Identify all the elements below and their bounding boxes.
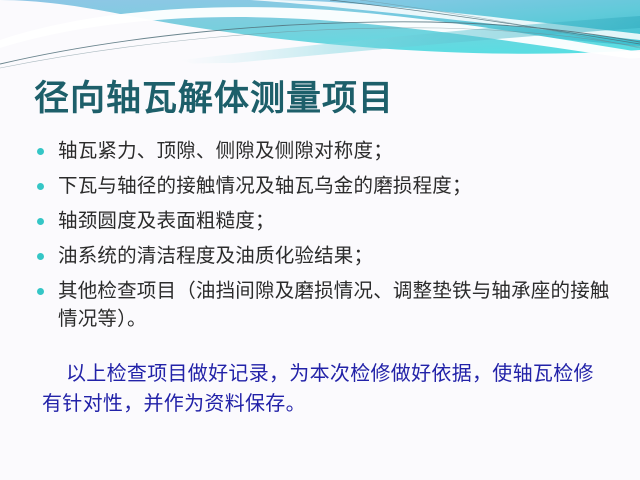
wave-banner-graphic bbox=[0, 0, 640, 72]
bullet-dot-icon bbox=[37, 253, 44, 260]
list-item: 轴颈圆度及表面粗糙度； bbox=[32, 208, 616, 236]
list-item-label: 其他检查项目（油挡间隙及磨损情况、调整垫铁与轴承座的接触情况等）。 bbox=[58, 278, 616, 334]
bullet-dot-icon bbox=[37, 288, 44, 295]
bullet-dot-icon bbox=[37, 183, 44, 190]
list-item-label: 轴颈圆度及表面粗糙度； bbox=[58, 208, 616, 236]
list-item-label: 下瓦与轴径的接触情况及轴瓦乌金的磨损程度； bbox=[58, 173, 616, 201]
summary-text: 以上检查项目做好记录，为本次检修做好依据，使轴瓦检修有针对性，并作为资料保存。 bbox=[42, 358, 602, 418]
list-item-label: 油系统的清洁程度及油质化验结果； bbox=[58, 243, 616, 271]
slide-canvas: 径向轴瓦解体测量项目 轴瓦紧力、顶隙、侧隙及侧隙对称度； 下瓦与轴径的接触情况及… bbox=[0, 0, 640, 480]
list-item: 油系统的清洁程度及油质化验结果； bbox=[32, 243, 616, 271]
checklist: 轴瓦紧力、顶隙、侧隙及侧隙对称度； 下瓦与轴径的接触情况及轴瓦乌金的磨损程度； … bbox=[32, 138, 616, 341]
list-item: 下瓦与轴径的接触情况及轴瓦乌金的磨损程度； bbox=[32, 173, 616, 201]
list-item: 其他检查项目（油挡间隙及磨损情况、调整垫铁与轴承座的接触情况等）。 bbox=[32, 278, 616, 334]
page-title: 径向轴瓦解体测量项目 bbox=[34, 76, 594, 124]
header-wave-banner bbox=[0, 0, 640, 72]
bullet-dot-icon bbox=[37, 148, 44, 155]
list-item: 轴瓦紧力、顶隙、侧隙及侧隙对称度； bbox=[32, 138, 616, 166]
list-item-label: 轴瓦紧力、顶隙、侧隙及侧隙对称度； bbox=[58, 138, 616, 166]
bullet-dot-icon bbox=[37, 218, 44, 225]
